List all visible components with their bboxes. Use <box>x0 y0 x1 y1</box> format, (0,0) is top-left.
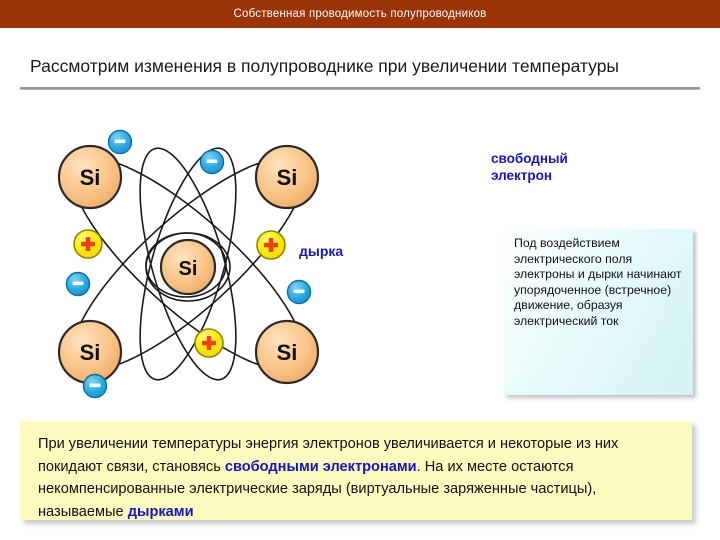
explanation-highlight-holes: дырками <box>128 504 194 520</box>
electric-field-note-text: Под воздействием электрического поля эле… <box>514 236 682 328</box>
plus-icon <box>269 238 274 252</box>
free-electron-label-line2: электрон <box>491 167 651 184</box>
free-electron-label-line1: свободный <box>491 150 651 167</box>
horizontal-divider <box>20 87 700 90</box>
electron-bottom-left <box>84 375 107 398</box>
title-banner: Собственная проводимость полупроводников <box>0 0 720 28</box>
minus-icon <box>294 290 305 294</box>
si-atom-label: Si <box>179 258 198 280</box>
si-atom-top-left: Si <box>59 146 121 208</box>
electron-top-left <box>109 131 132 154</box>
plus-icon <box>86 237 91 251</box>
explanation-highlight-free-electrons: свободными электронами <box>225 459 417 475</box>
si-atom-bottom-right: Si <box>256 321 318 383</box>
electron-mid-left <box>67 273 90 296</box>
si-atom-label: Si <box>80 165 101 190</box>
semiconductor-lattice-diagram: Si Si Si Si Si <box>22 112 412 412</box>
minus-icon <box>207 160 218 164</box>
si-atom-label: Si <box>277 165 298 190</box>
free-electron-label: свободный электрон <box>491 150 651 184</box>
hole-label: дырка <box>299 243 343 259</box>
page-subtitle: Рассмотрим изменения в полупроводнике пр… <box>30 56 619 77</box>
minus-icon <box>115 140 126 144</box>
electron-top-middle <box>201 151 224 174</box>
temperature-explanation-box: При увеличении температуры энергия элект… <box>20 421 692 520</box>
si-atoms: Si Si Si Si Si <box>59 146 318 383</box>
banner-title: Собственная проводимость полупроводников <box>234 8 487 20</box>
electron-mid-right <box>288 281 311 304</box>
si-atom-top-right: Si <box>256 146 318 208</box>
hole-right <box>257 231 285 259</box>
minus-icon <box>90 384 101 388</box>
si-atom-label: Si <box>277 340 298 365</box>
electric-field-note-box: Под воздействием электрического поля эле… <box>504 229 693 395</box>
hole-left <box>74 230 102 258</box>
si-atom-bottom-left: Si <box>59 321 121 383</box>
minus-icon <box>73 282 84 286</box>
plus-icon <box>207 336 212 350</box>
si-atom-center: Si <box>161 240 215 294</box>
si-atom-label: Si <box>80 340 101 365</box>
hole-bottom <box>195 329 223 357</box>
